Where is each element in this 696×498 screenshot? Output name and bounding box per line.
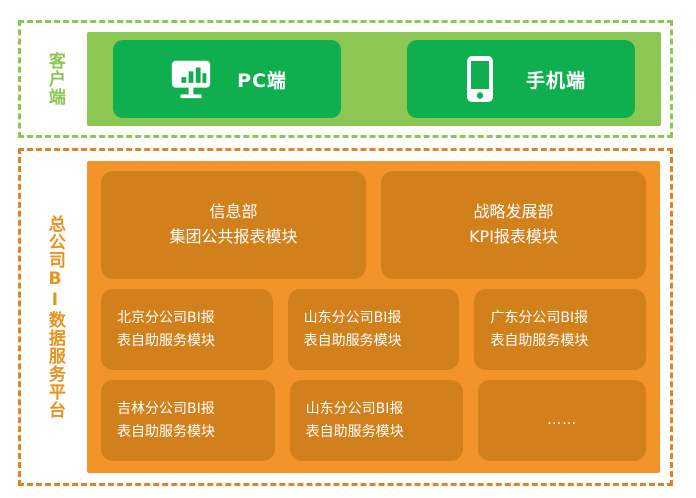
module-branch-more[interactable]: ……	[478, 380, 646, 461]
module-branch-guangdong-line2: 表自助服务模块	[490, 330, 588, 352]
architecture-diagram: 客户端 PC端	[0, 0, 696, 498]
client-card-mobile[interactable]: 手机端	[407, 40, 635, 118]
module-info-department-line1: 信息部	[169, 200, 297, 225]
module-branch-jilin[interactable]: 吉林分公司BI报 表自助服务模块	[101, 380, 275, 461]
module-branch-jilin-line2: 表自助服务模块	[117, 421, 215, 443]
client-card-pc-label: PC端	[237, 66, 287, 93]
module-branch-beijing-line1: 北京分公司BI报	[117, 307, 215, 329]
branch-module-row-1: 北京分公司BI报 表自助服务模块 山东分公司BI报 表自助服务模块 广东分公司B…	[101, 289, 646, 370]
module-branch-jilin-line1: 吉林分公司BI报	[117, 398, 215, 420]
client-card-pc[interactable]: PC端	[113, 40, 341, 118]
platform-section-label: 总公司BI数据服务平台	[21, 151, 87, 483]
department-module-row: 信息部 集团公共报表模块 战略发展部 KPI报表模块	[101, 171, 646, 279]
module-strategy-department-line1: 战略发展部	[469, 200, 558, 225]
client-section-label-text: 客户端	[45, 52, 63, 106]
client-panel: PC端 手机端	[87, 32, 661, 126]
module-branch-shandong-1-line1: 山东分公司BI报	[304, 307, 402, 329]
branch-module-row-2: 吉林分公司BI报 表自助服务模块 山东分公司BI报 表自助服务模块 ……	[101, 380, 646, 461]
client-section: 客户端 PC端	[18, 20, 673, 138]
module-branch-shandong-2[interactable]: 山东分公司BI报 表自助服务模块	[290, 380, 464, 461]
platform-section-label-text: 总公司BI数据服务平台	[45, 215, 63, 419]
desktop-chart-icon	[167, 53, 215, 105]
module-strategy-department-line2: KPI报表模块	[469, 225, 558, 250]
module-branch-beijing-line2: 表自助服务模块	[117, 330, 215, 352]
client-card-mobile-label: 手机端	[526, 66, 586, 93]
module-branch-shandong-1-line2: 表自助服务模块	[304, 330, 402, 352]
module-branch-guangdong-line1: 广东分公司BI报	[490, 307, 588, 329]
module-branch-beijing[interactable]: 北京分公司BI报 表自助服务模块	[101, 289, 273, 370]
module-info-department[interactable]: 信息部 集团公共报表模块	[101, 171, 366, 279]
module-branch-shandong-2-line1: 山东分公司BI报	[306, 398, 404, 420]
module-branch-guangdong[interactable]: 广东分公司BI报 表自助服务模块	[474, 289, 646, 370]
module-branch-shandong-2-line2: 表自助服务模块	[306, 421, 404, 443]
smartphone-icon	[456, 53, 504, 105]
platform-section: 总公司BI数据服务平台 信息部 集团公共报表模块 战略发展部 KPI报表模块	[18, 148, 673, 486]
module-branch-more-label: ……	[547, 409, 577, 431]
client-section-label: 客户端	[21, 23, 87, 135]
platform-panel: 信息部 集团公共报表模块 战略发展部 KPI报表模块 北京分公司BI报	[87, 161, 660, 473]
module-strategy-department[interactable]: 战略发展部 KPI报表模块	[381, 171, 646, 279]
module-info-department-line2: 集团公共报表模块	[169, 225, 297, 250]
module-branch-shandong-1[interactable]: 山东分公司BI报 表自助服务模块	[288, 289, 460, 370]
